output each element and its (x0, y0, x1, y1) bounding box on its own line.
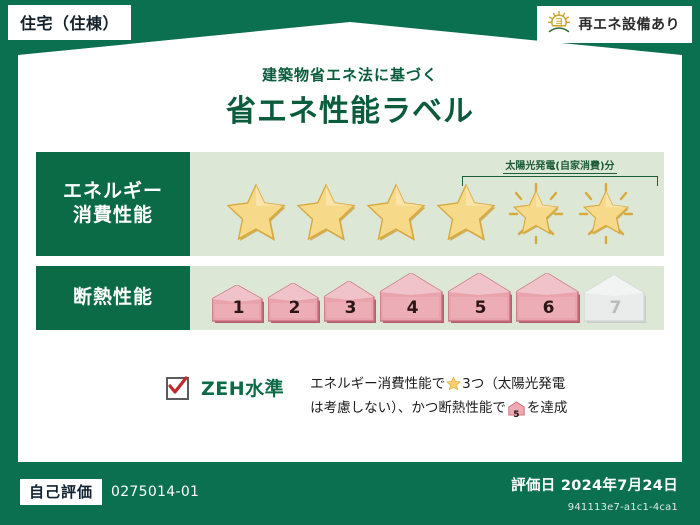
insulation-level-active[interactable]: 6 (516, 273, 581, 324)
insulation-performance-row: 断熱性能 1 2 3 (36, 266, 664, 330)
zeh-desc-part1: エネルギー消費性能で (310, 376, 445, 392)
solar-note-label: 太陽光発電(自家消費)分 (503, 157, 616, 174)
energy-star-rating (224, 178, 656, 248)
house-type-tag: 住宅（住棟） (8, 5, 131, 40)
star-filled (294, 181, 358, 245)
zeh-title: ZEH水準 (201, 374, 284, 401)
energy-performance-label: エネルギー 消費性能 (36, 152, 190, 256)
insulation-level-scale: 1 2 3 4 (212, 266, 654, 330)
insulation-label-text: 断熱性能 (73, 286, 153, 310)
evaluation-id: 941113e7-a1c1-4ca1 (568, 502, 678, 513)
renewable-badge-label: 再エネ設備あり (579, 14, 681, 34)
insulation-level-inactive[interactable]: 7 (584, 275, 647, 324)
solar-note-bracket (462, 176, 658, 186)
energy-label-line1: エネルギー (63, 180, 163, 204)
insulation-level-active[interactable]: 2 (268, 283, 321, 324)
star-filled (364, 181, 428, 245)
insulation-level-active[interactable]: 5 (448, 273, 513, 324)
svg-text:ヨ: ヨ (555, 17, 563, 26)
star-filled (434, 181, 498, 245)
inline-house-icon: 5 (508, 401, 525, 423)
insulation-rating-area: 1 2 3 4 (190, 266, 664, 330)
energy-label-card: 住宅（住棟） ヨ 再エネ設備あり 建築物省エネ法に基づく 省エネ性能ラベル (0, 0, 700, 525)
insulation-performance-label: 断熱性能 (36, 266, 190, 330)
zeh-checkbox[interactable] (166, 377, 189, 400)
zeh-desc-part2: は考慮しない）、かつ断熱性能で (310, 400, 506, 416)
insulation-level-active[interactable]: 4 (380, 273, 445, 324)
energy-label-line2: 消費性能 (73, 204, 153, 228)
energy-performance-row: エネルギー 消費性能 太陽光発電(自家消費)分 (36, 152, 664, 256)
solar-self-consumption-annotation: 太陽光発電(自家消費)分 (462, 154, 658, 186)
zeh-standard-block: ZEH水準 エネルギー消費性能で3つ（太陽光発電は考慮しない）、かつ断熱性能で5… (166, 374, 567, 423)
self-evaluation-code: 0275014-01 (111, 484, 199, 500)
zeh-desc-part3: を達成 (527, 400, 568, 416)
star-solar (504, 181, 568, 245)
renewable-equipment-badge: ヨ 再エネ設備あり (537, 6, 693, 43)
zeh-description: エネルギー消費性能で3つ（太陽光発電は考慮しない）、かつ断熱性能で5を達成 (310, 374, 567, 423)
label-subtitle: 建築物省エネ法に基づく (0, 64, 700, 85)
star-solar (574, 181, 638, 245)
inline-house-number: 5 (508, 409, 525, 423)
label-title: 省エネ性能ラベル (0, 86, 700, 130)
insulation-level-active[interactable]: 3 (324, 281, 377, 324)
evaluation-date: 評価日 2024年7月24日 (511, 474, 678, 495)
insulation-level-active[interactable]: 1 (212, 285, 265, 324)
energy-rating-area: 太陽光発電(自家消費)分 (190, 152, 664, 256)
self-evaluation-footer: 自己評価 0275014-01 (20, 479, 199, 505)
star-filled (224, 181, 288, 245)
sun-solar-icon: ヨ (546, 10, 572, 38)
inline-star-icon (446, 376, 461, 398)
zeh-desc-stars: 3つ（太陽光発電 (462, 376, 565, 392)
self-evaluation-badge: 自己評価 (20, 479, 102, 505)
